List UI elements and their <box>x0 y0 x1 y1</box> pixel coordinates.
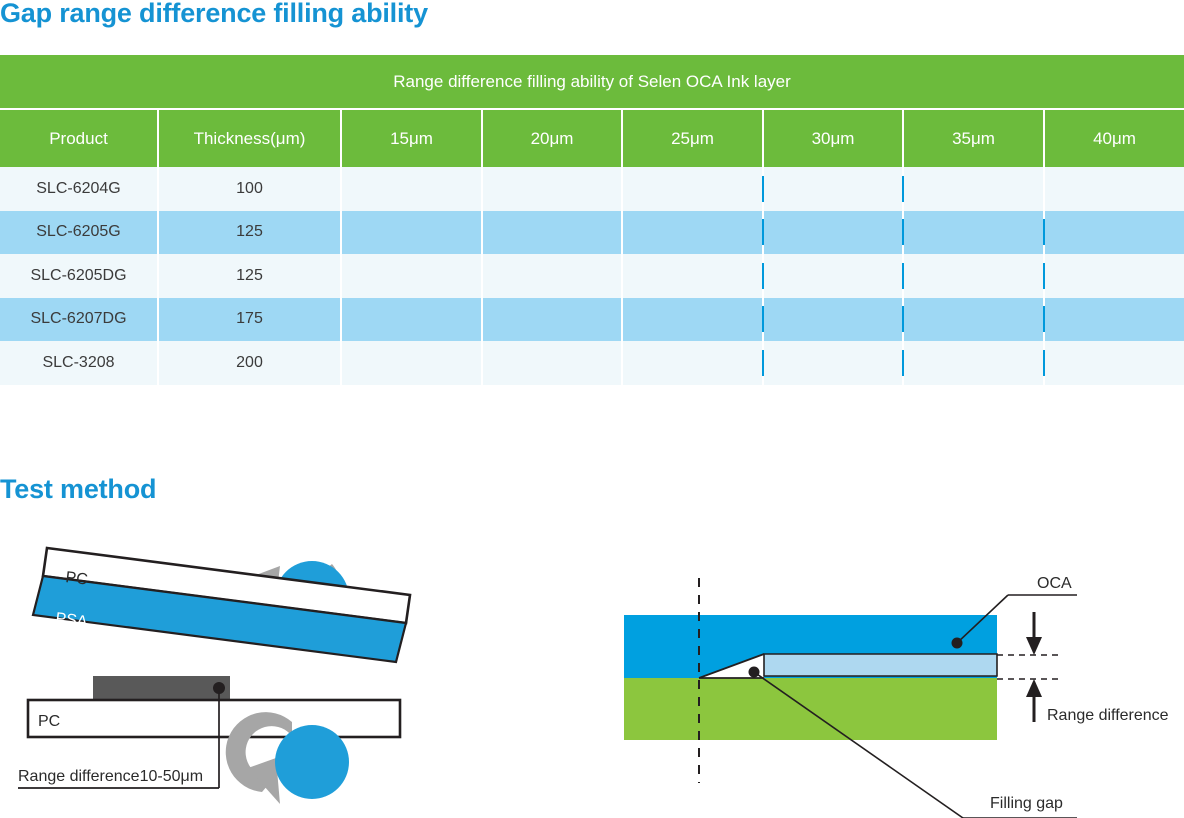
cell-bar-40um <box>1044 167 1184 211</box>
table-row[interactable]: SLC-6207DG 175 <box>0 298 1184 342</box>
cell-bar-25um <box>622 167 763 211</box>
column-header-30um[interactable]: 30μm <box>763 109 903 167</box>
page-title-gap-range: Gap range difference filling ability <box>0 0 428 29</box>
cell-bar-40um <box>1044 341 1184 385</box>
cell-bar-40um <box>1044 254 1184 298</box>
cross-section-svg: OCA Range difference Filling gap <box>600 540 1184 818</box>
cell-bar-20um <box>482 254 622 298</box>
table-header-row: Product Thickness(μm) 15μm 20μm 25μm 30μ… <box>0 109 1184 167</box>
column-header-40um[interactable]: 40μm <box>1044 109 1184 167</box>
oca-anchor-dot <box>952 638 963 649</box>
cell-bar-25um <box>622 211 763 255</box>
cell-bar-35um <box>903 341 1044 385</box>
roller-bottom <box>275 725 349 799</box>
range-difference-anchor-dot <box>213 682 225 694</box>
cell-thickness: 125 <box>158 211 341 255</box>
label-range-difference: Range difference <box>1047 707 1169 724</box>
bottom-plate-pc <box>28 700 400 737</box>
cell-bar-30um <box>763 298 903 342</box>
column-header-product[interactable]: Product <box>0 109 158 167</box>
slide-root: Gap range difference filling ability Ran… <box>0 0 1184 818</box>
table-row[interactable]: SLC-6205G 125 <box>0 211 1184 255</box>
table-grid: Range difference filling ability of Sele… <box>0 55 1184 385</box>
cell-product: SLC-6204G <box>0 167 158 211</box>
page-title-test-method: Test method <box>0 474 156 505</box>
cell-bar-15um <box>341 298 482 342</box>
cell-bar-25um <box>622 341 763 385</box>
cell-product: SLC-6207DG <box>0 298 158 342</box>
substrate-green-layer <box>624 678 997 740</box>
table-row[interactable]: SLC-3208 200 <box>0 341 1184 385</box>
table-body: SLC-6204G 100 SLC-6205G 125 <box>0 167 1184 385</box>
cell-bar-35um <box>903 254 1044 298</box>
cell-thickness: 100 <box>158 167 341 211</box>
table-row[interactable]: SLC-6205DG 125 <box>0 254 1184 298</box>
cell-thickness: 175 <box>158 298 341 342</box>
column-header-thickness[interactable]: Thickness(μm) <box>158 109 341 167</box>
cell-bar-20um <box>482 167 622 211</box>
cell-product: SLC-6205DG <box>0 254 158 298</box>
cell-product: SLC-6205G <box>0 211 158 255</box>
label-bottom-plate-pc: PC <box>38 713 60 730</box>
cell-bar-15um <box>341 167 482 211</box>
cell-bar-15um <box>341 211 482 255</box>
filling-gap-anchor-dot <box>749 667 760 678</box>
cell-bar-40um <box>1044 298 1184 342</box>
cell-thickness: 125 <box>158 254 341 298</box>
column-header-35um[interactable]: 35μm <box>903 109 1044 167</box>
cell-bar-35um <box>903 298 1044 342</box>
label-top-plate-pc: PC <box>65 569 89 589</box>
cell-bar-20um <box>482 298 622 342</box>
label-filling-gap: Filling gap <box>990 795 1063 812</box>
gray-spacer-block <box>93 676 230 700</box>
cell-bar-20um <box>482 211 622 255</box>
table-head: Range difference filling ability of Sele… <box>0 55 1184 167</box>
label-range-difference-note: Range difference10-50μm <box>18 768 203 785</box>
cell-bar-40um <box>1044 211 1184 255</box>
column-header-25um[interactable]: 25μm <box>622 109 763 167</box>
ink-step-layer <box>764 654 997 676</box>
label-psa: PSA <box>55 610 89 631</box>
filling-ability-table: Range difference filling ability of Sele… <box>0 55 1184 385</box>
table-banner-row: Range difference filling ability of Sele… <box>0 55 1184 109</box>
cell-bar-30um <box>763 254 903 298</box>
table-row[interactable]: SLC-6204G 100 <box>0 167 1184 211</box>
cell-bar-35um <box>903 211 1044 255</box>
cell-bar-35um <box>903 167 1044 211</box>
cell-bar-30um <box>763 211 903 255</box>
arrow-up-icon <box>1026 679 1042 722</box>
cell-bar-15um <box>341 341 482 385</box>
cell-bar-30um <box>763 167 903 211</box>
label-oca: OCA <box>1037 575 1072 592</box>
peel-diagram-svg: PC PSA PC Range difference10-50μm <box>0 520 470 818</box>
cell-bar-30um <box>763 341 903 385</box>
column-header-15um[interactable]: 15μm <box>341 109 482 167</box>
test-method-peel-diagram: PC PSA PC Range difference10-50μm <box>0 520 470 818</box>
cell-bar-20um <box>482 341 622 385</box>
column-header-20um[interactable]: 20μm <box>482 109 622 167</box>
cell-bar-25um <box>622 298 763 342</box>
filling-gap-cross-section: OCA Range difference Filling gap <box>600 540 1184 818</box>
table-banner-title: Range difference filling ability of Sele… <box>0 55 1184 109</box>
cell-bar-15um <box>341 254 482 298</box>
arrow-down-icon <box>1026 612 1042 655</box>
cell-bar-25um <box>622 254 763 298</box>
cell-thickness: 200 <box>158 341 341 385</box>
cell-product: SLC-3208 <box>0 341 158 385</box>
